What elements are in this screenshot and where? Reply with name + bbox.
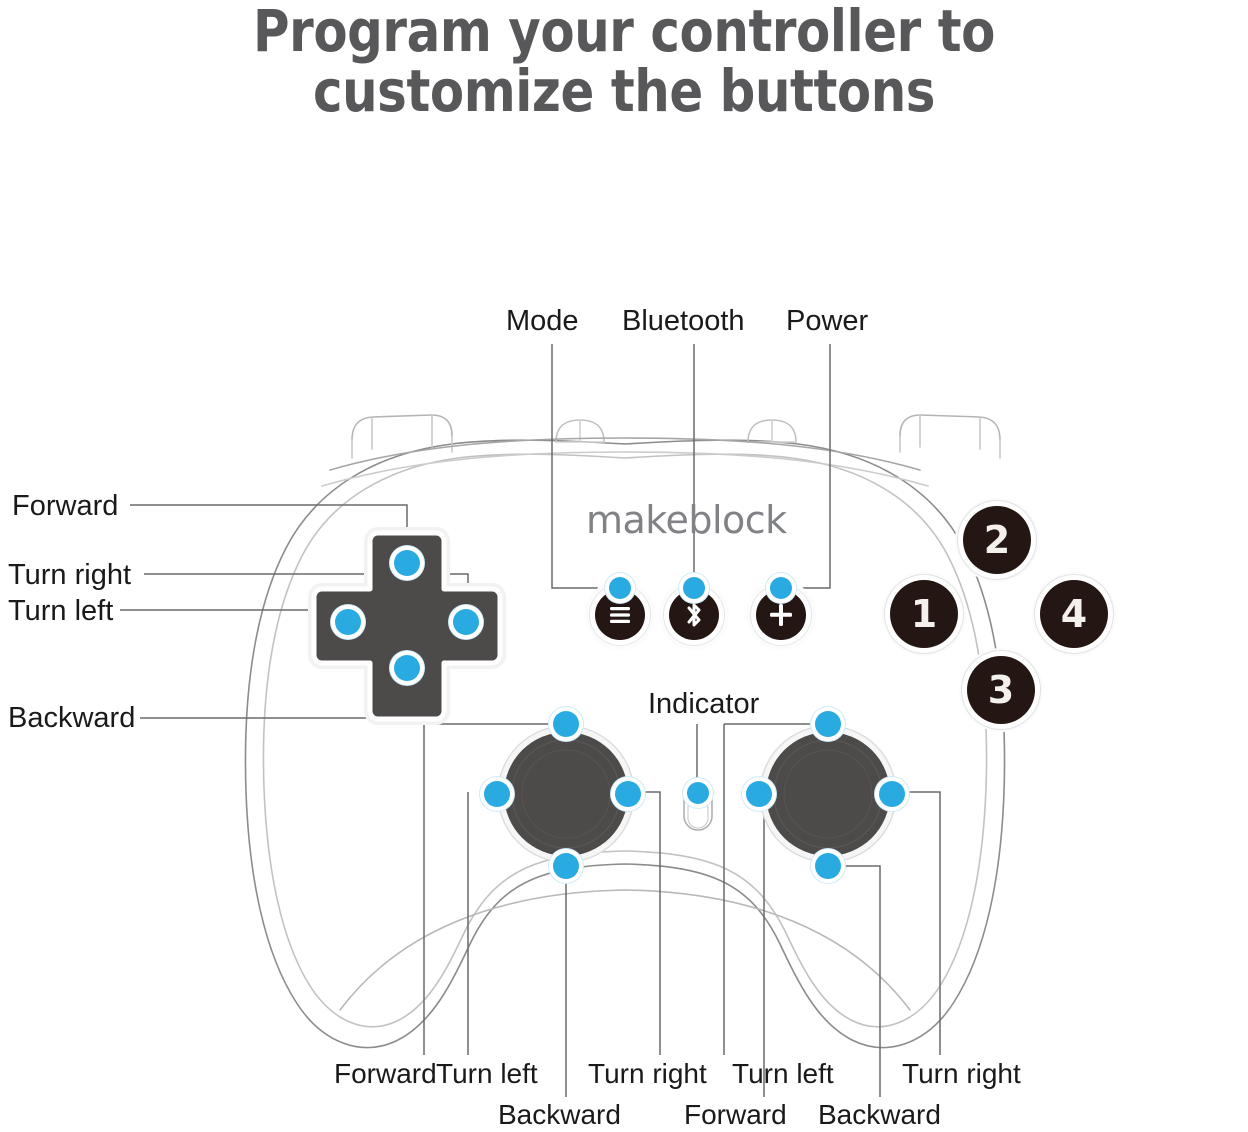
marker-lstick-down <box>553 853 579 879</box>
body-bottom-sweep <box>340 890 910 1010</box>
label-mode: Mode <box>506 307 579 336</box>
marker-dpad-down <box>394 655 420 681</box>
left-stick-cap <box>504 732 628 856</box>
label-power: Power <box>786 307 868 336</box>
label-bluetooth: Bluetooth <box>622 307 745 336</box>
marker-rstick-up <box>815 711 841 737</box>
face-button-2[interactable]: 2 <box>963 506 1031 574</box>
leader-mode <box>552 344 598 588</box>
right-stick-cap <box>766 732 890 856</box>
label-dpad-backward: Backward <box>8 704 135 733</box>
face-button-3[interactable]: 3 <box>967 656 1035 724</box>
marker-bluetooth <box>683 577 705 599</box>
plus-icon <box>768 602 794 628</box>
marker-rstick-right <box>879 781 905 807</box>
leader-lstick-turn-right <box>628 792 660 1055</box>
controller-line-art <box>0 0 1248 1132</box>
label-rstick-turn-left: Turn left <box>732 1060 834 1088</box>
right-bumper-top <box>900 436 1000 458</box>
label-lstick-turn-right: Turn right <box>588 1060 707 1088</box>
leader-power <box>784 344 830 588</box>
label-lstick-turn-left: Turn left <box>436 1060 538 1088</box>
leader-rstick-turn-right <box>892 792 940 1055</box>
marker-indicator <box>687 782 709 804</box>
infographic-canvas: Program your controller to customize the… <box>0 0 1248 1132</box>
label-indicator: Indicator <box>648 690 759 719</box>
face-button-1[interactable]: 1 <box>890 580 958 648</box>
hamburger-menu-icon <box>607 605 633 625</box>
right-bumper-outline <box>900 415 1000 440</box>
label-dpad-turn-right: Turn right <box>8 561 131 590</box>
body-top-ridge-2 <box>322 452 928 486</box>
left-analog-stick <box>498 726 634 862</box>
label-lstick-backward: Backward <box>498 1101 621 1129</box>
marker-rstick-down <box>815 853 841 879</box>
leader-rstick-backward <box>828 866 880 1097</box>
right-trigger-detail <box>748 420 796 442</box>
label-dpad-forward: Forward <box>12 492 118 521</box>
marker-lstick-right <box>615 781 641 807</box>
label-rstick-turn-right: Turn right <box>902 1060 1021 1088</box>
marker-dpad-right <box>453 609 479 635</box>
label-rstick-backward: Backward <box>818 1101 941 1129</box>
marker-lstick-up <box>553 711 579 737</box>
bluetooth-icon <box>683 600 705 630</box>
marker-dpad-up <box>394 550 420 576</box>
marker-rstick-left <box>746 781 772 807</box>
marker-mode <box>609 577 631 599</box>
marker-power <box>770 577 792 599</box>
label-lstick-forward: Forward <box>334 1060 437 1088</box>
right-analog-stick <box>760 726 896 862</box>
marker-lstick-left <box>484 781 510 807</box>
left-bumper-edge <box>372 415 432 449</box>
face-button-4[interactable]: 4 <box>1040 580 1108 648</box>
label-dpad-turn-left: Turn left <box>8 597 113 626</box>
marker-dpad-left <box>335 609 361 635</box>
makeblock-logo: makeblock <box>586 498 787 542</box>
right-bumper-edge <box>920 415 980 449</box>
label-rstick-forward: Forward <box>684 1101 787 1129</box>
left-bumper-outline <box>352 415 452 440</box>
